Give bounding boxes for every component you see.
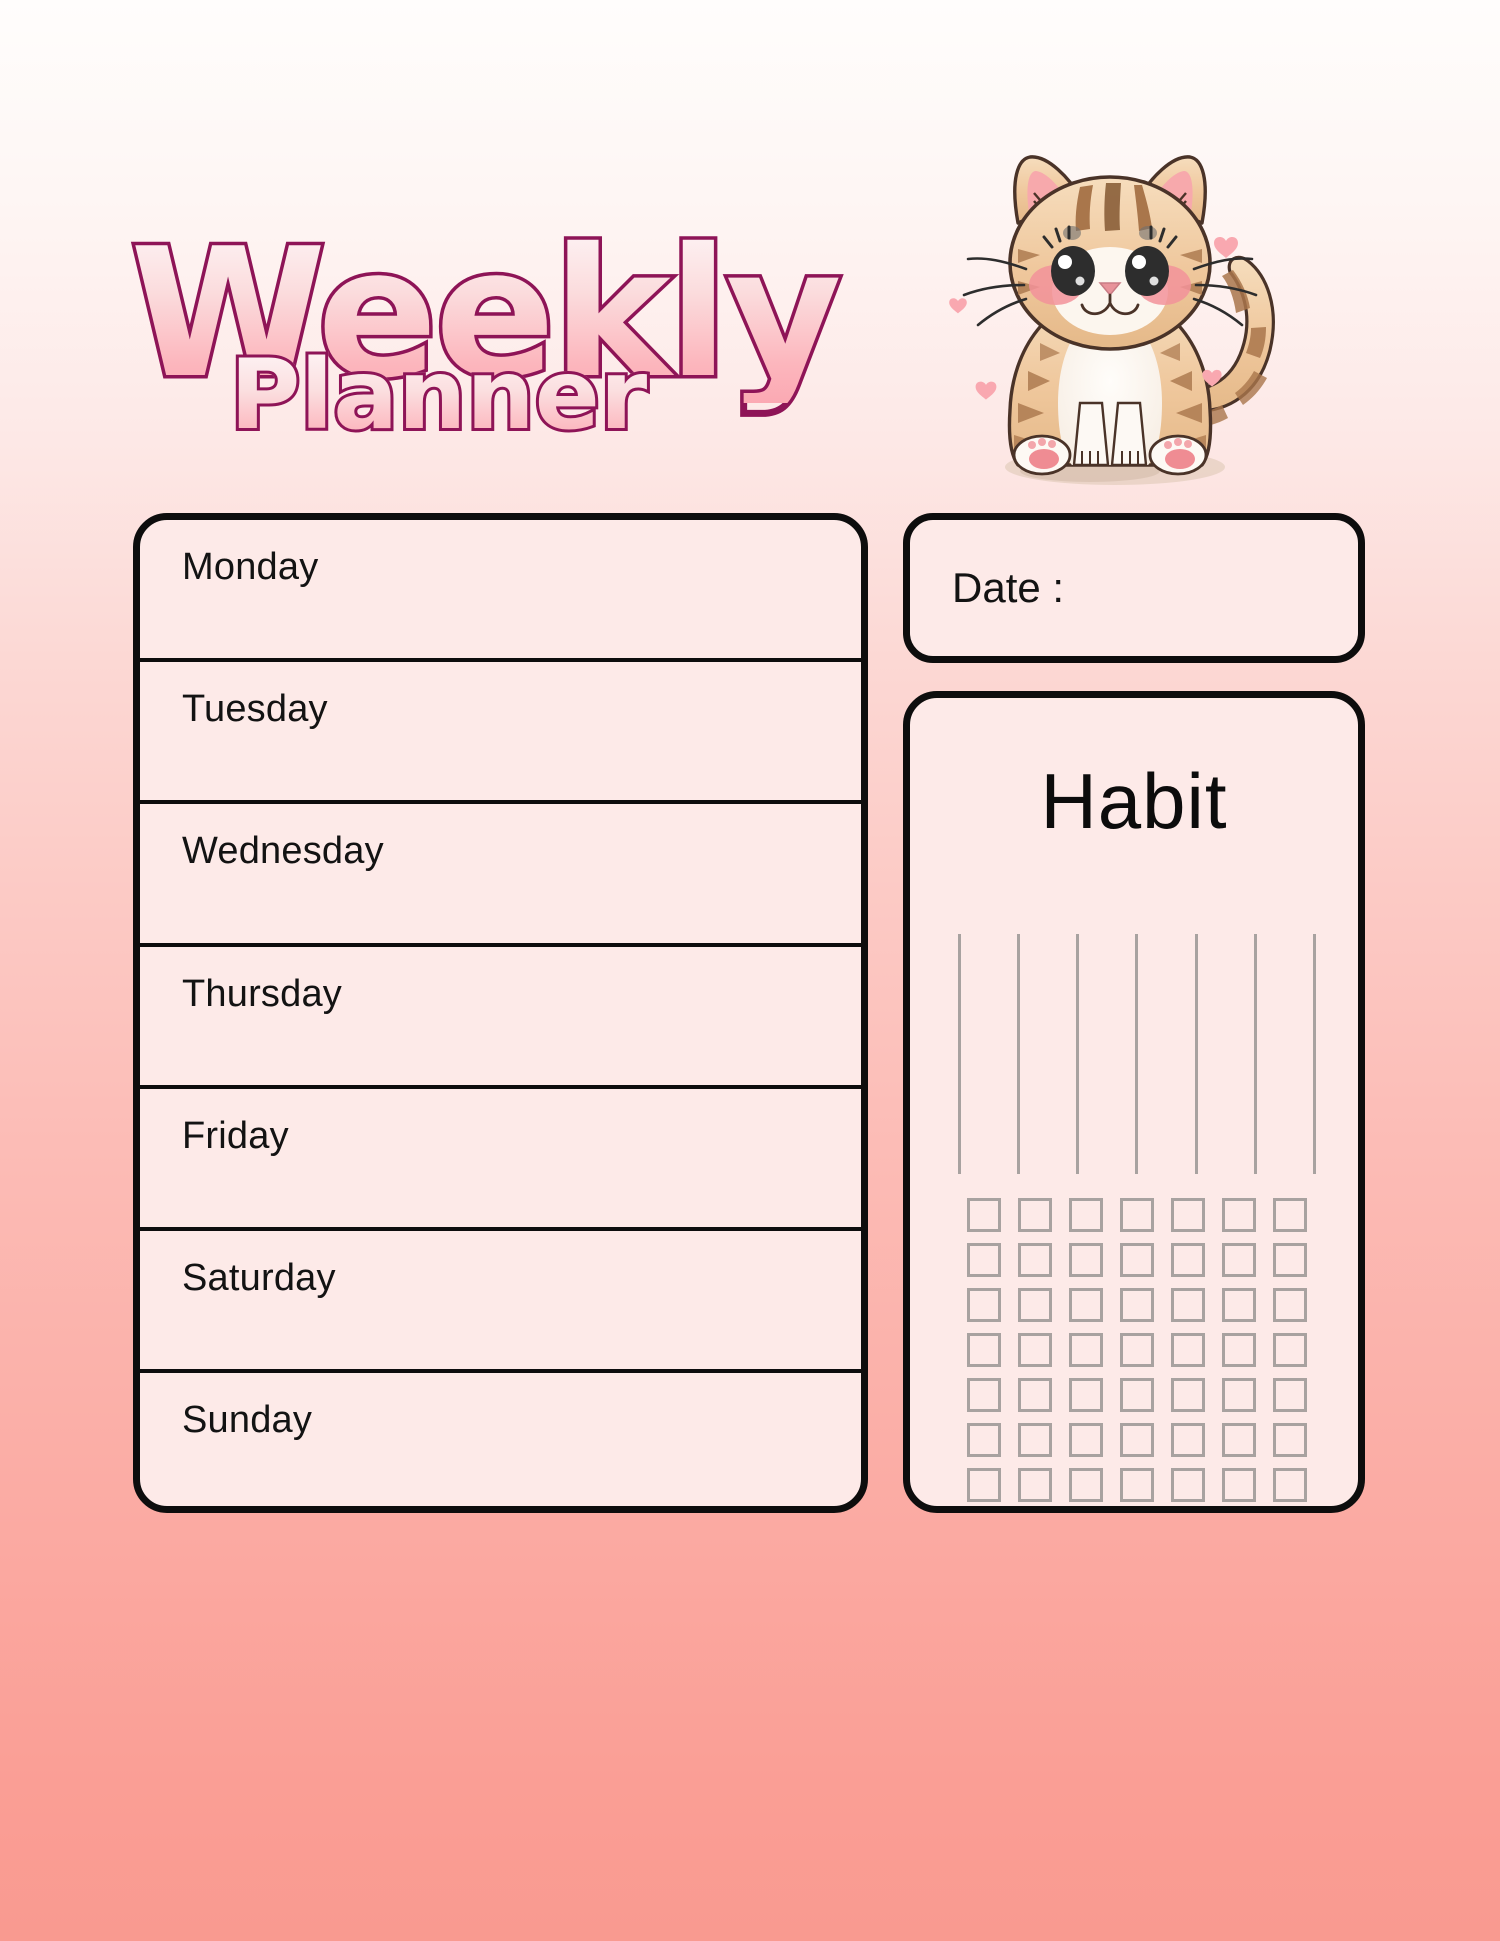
habit-column-line (1017, 934, 1020, 1174)
habit-checkbox[interactable] (1273, 1243, 1307, 1277)
habit-tracker-panel: Habit (903, 691, 1365, 1513)
habit-checkbox[interactable] (1018, 1378, 1052, 1412)
day-label: Saturday (182, 1257, 336, 1299)
habit-checkbox[interactable] (1120, 1198, 1154, 1232)
habit-checkbox[interactable] (1222, 1333, 1256, 1367)
habit-checkbox[interactable] (1069, 1423, 1103, 1457)
habit-checkbox[interactable] (1171, 1378, 1205, 1412)
habit-checkbox[interactable] (1069, 1288, 1103, 1322)
habit-checkbox[interactable] (1273, 1288, 1307, 1322)
habit-checkbox[interactable] (1120, 1333, 1154, 1367)
habit-column-line (1135, 934, 1138, 1174)
day-label: Tuesday (182, 688, 328, 730)
title-block: Weekly Weekly Planner Planner (130, 225, 850, 485)
habit-checkbox[interactable] (1273, 1468, 1307, 1502)
page-subtitle: Planner (230, 347, 647, 443)
day-row-tuesday[interactable]: Tuesday (140, 662, 861, 804)
habit-checkbox[interactable] (1222, 1423, 1256, 1457)
habit-column-line (958, 934, 961, 1174)
habit-checkbox[interactable] (1171, 1288, 1205, 1322)
cat-illustration (930, 135, 1290, 495)
habit-column-lines (958, 934, 1316, 1174)
habit-title: Habit (910, 756, 1358, 847)
habit-checkbox[interactable] (1120, 1243, 1154, 1277)
habit-checkbox[interactable] (967, 1198, 1001, 1232)
habit-checkbox[interactable] (967, 1333, 1001, 1367)
day-label: Sunday (182, 1399, 312, 1441)
habit-checkbox[interactable] (967, 1423, 1001, 1457)
habit-checkbox[interactable] (1069, 1198, 1103, 1232)
habit-checkbox[interactable] (1273, 1198, 1307, 1232)
day-label: Wednesday (182, 830, 384, 872)
habit-checkbox[interactable] (1273, 1378, 1307, 1412)
day-row-monday[interactable]: Monday (140, 520, 861, 662)
habit-column-line (1195, 934, 1198, 1174)
planner-main: Monday Tuesday Wednesday Thursday Friday… (0, 505, 1500, 1515)
habit-checkbox[interactable] (1222, 1198, 1256, 1232)
habit-checkbox[interactable] (1222, 1288, 1256, 1322)
cat-head (964, 177, 1256, 349)
habit-checkbox[interactable] (1069, 1468, 1103, 1502)
habit-checkbox[interactable] (1171, 1423, 1205, 1457)
day-row-friday[interactable]: Friday (140, 1089, 861, 1231)
habit-checkbox[interactable] (1171, 1333, 1205, 1367)
habit-checkbox[interactable] (967, 1243, 1001, 1277)
habit-checkbox[interactable] (1273, 1333, 1307, 1367)
habit-checkbox[interactable] (1018, 1423, 1052, 1457)
habit-checkbox[interactable] (1222, 1243, 1256, 1277)
day-label: Monday (182, 546, 318, 588)
habit-checkbox[interactable] (1273, 1423, 1307, 1457)
habit-checkbox[interactable] (967, 1288, 1001, 1322)
habit-checkbox[interactable] (1069, 1243, 1103, 1277)
habit-checkbox[interactable] (1171, 1198, 1205, 1232)
day-label: Thursday (182, 973, 342, 1015)
habit-checkbox[interactable] (1222, 1378, 1256, 1412)
habit-checkbox[interactable] (1069, 1378, 1103, 1412)
habit-checkbox[interactable] (1018, 1198, 1052, 1232)
habit-checkbox[interactable] (1120, 1378, 1154, 1412)
date-label: Date : (952, 564, 1064, 612)
habit-checkbox[interactable] (1222, 1468, 1256, 1502)
habit-checkbox[interactable] (1171, 1243, 1205, 1277)
habit-column-line (1313, 934, 1316, 1174)
day-row-saturday[interactable]: Saturday (140, 1231, 861, 1373)
habit-checkbox[interactable] (967, 1378, 1001, 1412)
habit-checkbox[interactable] (1018, 1468, 1052, 1502)
habit-checkbox[interactable] (1018, 1288, 1052, 1322)
habit-checkbox[interactable] (967, 1468, 1001, 1502)
habit-checkbox[interactable] (1120, 1468, 1154, 1502)
habit-column-line (1254, 934, 1257, 1174)
days-panel: Monday Tuesday Wednesday Thursday Friday… (133, 513, 868, 1513)
habit-checkbox[interactable] (1018, 1333, 1052, 1367)
habit-checkbox[interactable] (1171, 1468, 1205, 1502)
right-column: Date : Habit (903, 513, 1365, 1513)
habit-checkbox-grid (958, 1198, 1316, 1508)
habit-checkbox[interactable] (1018, 1243, 1052, 1277)
day-row-sunday[interactable]: Sunday (140, 1373, 861, 1513)
habit-checkbox[interactable] (1069, 1333, 1103, 1367)
habit-checkbox[interactable] (1120, 1423, 1154, 1457)
day-label: Friday (182, 1115, 289, 1157)
day-row-thursday[interactable]: Thursday (140, 947, 861, 1089)
date-field[interactable]: Date : (903, 513, 1365, 663)
habit-column-line (1076, 934, 1079, 1174)
habit-checkbox[interactable] (1120, 1288, 1154, 1322)
day-row-wednesday[interactable]: Wednesday (140, 804, 861, 946)
